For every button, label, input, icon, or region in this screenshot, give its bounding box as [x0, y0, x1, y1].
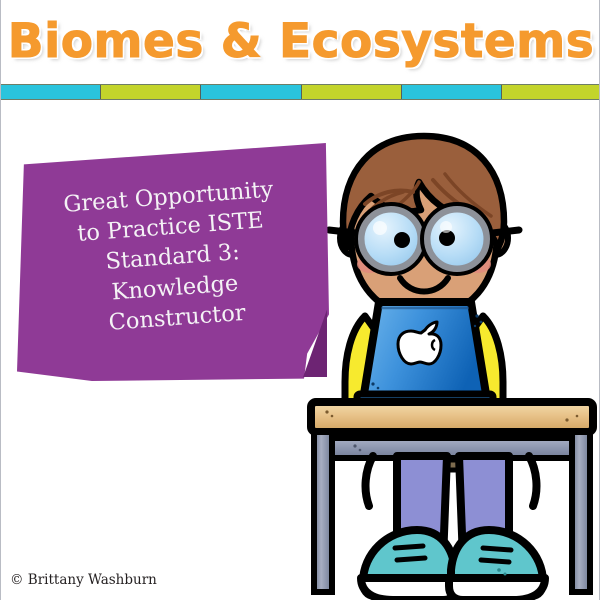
divider-segment-6 [502, 85, 600, 99]
slide-page: Biomes & Ecosystems [0, 0, 600, 600]
divider-segment-4 [302, 85, 402, 99]
color-divider-bar [1, 84, 600, 100]
shoe-right [449, 530, 545, 600]
boy-legs-and-shoes [361, 456, 545, 600]
divider-segment-1 [1, 85, 101, 99]
boy-head [329, 136, 519, 316]
divider-segment-5 [402, 85, 502, 99]
divider-segment-3 [201, 85, 301, 99]
page-title-area: Biomes & Ecosystems [1, 0, 600, 82]
divider-segment-2 [101, 85, 201, 99]
shoe-left [361, 530, 457, 600]
callout-text: Great Opportunity to Practice ISTE Stand… [9, 132, 338, 392]
copyright-notice: © Brittany Washburn [10, 572, 157, 588]
boy-at-desk-illustration [301, 130, 600, 600]
iste-standard-callout: Great Opportunity to Practice ISTE Stand… [17, 143, 329, 381]
page-title: Biomes & Ecosystems [8, 14, 594, 69]
laptop [357, 302, 493, 406]
